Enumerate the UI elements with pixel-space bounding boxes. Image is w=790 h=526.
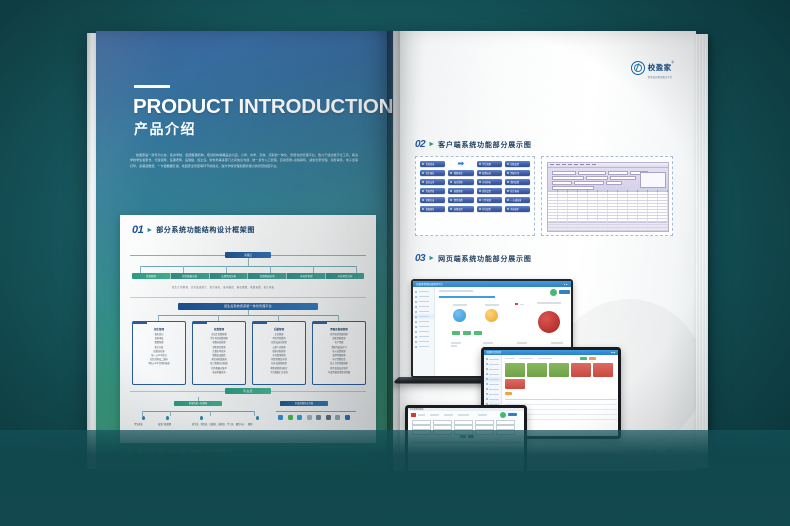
terminal-icon <box>316 415 321 420</box>
section-03-title: 网页端系统功能部分展示图 <box>438 254 532 264</box>
gauge-orange <box>485 309 498 322</box>
status-card-green[interactable] <box>527 363 547 377</box>
tier1-cell: 招生数据分析 <box>171 273 210 279</box>
function-button-label: 门禁管理 <box>482 198 491 202</box>
function-button[interactable]: 一卡通充值 <box>505 197 530 203</box>
section-01-number: 01 <box>132 224 143 236</box>
connector <box>140 266 141 274</box>
section-03-header: 03 ► 网页端系统功能部分展示图 <box>415 253 532 264</box>
function-button-label: 打印设置 <box>482 207 491 211</box>
function-button-label: 数据备份 <box>426 207 435 211</box>
filter-input[interactable] <box>475 425 494 430</box>
action-chip[interactable] <box>452 331 460 334</box>
sidebar-item-label <box>419 306 429 307</box>
filter-input[interactable] <box>412 420 431 425</box>
function-button-label: 减免设置 <box>482 189 491 193</box>
function-button-label: 代收代管 <box>426 189 435 193</box>
sidebar-item-label <box>419 336 429 337</box>
status-dot-icon <box>422 199 424 201</box>
function-column: 招生管理报名登记资格审核缴费管理新生分班班级花名册统一公众号登记招生简章及二维码… <box>132 321 186 385</box>
menu-dot-icon <box>415 336 417 338</box>
column-item: 新生分班 <box>133 346 185 350</box>
diagram-rule-top <box>130 255 366 256</box>
menu-dot-icon <box>486 358 488 360</box>
column-item: 校车及线路管理 <box>253 362 305 366</box>
function-button[interactable]: 学生管理 <box>477 161 502 167</box>
status-card-green[interactable] <box>549 363 569 377</box>
export-chip[interactable] <box>589 357 596 360</box>
function-button-label: 统计报表 <box>510 189 519 193</box>
menu-dot-icon <box>486 383 488 385</box>
connector <box>170 411 171 416</box>
status-dot-icon <box>507 181 509 183</box>
alipay-icon <box>297 415 302 420</box>
menu-dot-icon <box>415 341 417 343</box>
column-item: 收费标准管理 <box>193 341 245 345</box>
dashboard-title: 校盈家智慧校园管理平台 <box>416 282 442 286</box>
breadcrumb <box>439 290 473 291</box>
mobile-icon <box>345 415 350 420</box>
menu-dot-icon <box>486 373 488 375</box>
wechat-pay-icon <box>288 415 293 420</box>
menu-dot-icon <box>486 368 488 370</box>
connector <box>142 411 143 416</box>
function-button[interactable]: 票据打印 <box>505 170 530 176</box>
page-title-cn: 产品介绍 <box>134 119 196 139</box>
status-dot-icon <box>422 190 424 192</box>
section-02-header: 02 ► 客户端系统功能部分展示图 <box>415 139 532 150</box>
action-chip[interactable] <box>463 331 471 334</box>
tier1-cell: 收费数据分析 <box>248 273 287 279</box>
sidebar-item-label <box>489 374 499 375</box>
status-badge-blue <box>559 290 570 294</box>
column-item: 平台数据汇总查询 <box>253 371 305 375</box>
function-button[interactable]: 水电抄表 <box>477 179 502 185</box>
column-item: 财务收款票据管理 <box>313 333 365 337</box>
column-title: 后勤管理 <box>253 327 305 331</box>
section-02-title: 客户端系统功能部分展示图 <box>438 140 532 150</box>
map-pin-icon <box>200 416 203 420</box>
column-item: 学校公众平台预约报名 <box>133 362 185 366</box>
action-chip[interactable] <box>474 331 482 334</box>
column-item: 收支明细查询 <box>193 371 245 375</box>
tier1-cell: 交费情况分析 <box>210 273 249 279</box>
status-dot-icon <box>507 163 509 165</box>
leaf-label: 校务行政管理 <box>158 422 171 426</box>
sidebar-item-label <box>489 359 499 360</box>
right-page: 校盈家® 智慧校园管理服务平台 02 ► 客户端系统功能部分展示图 系统登录➡学… <box>393 31 696 471</box>
connector <box>158 315 338 316</box>
tier1-note: 招生计划管理、宣传渠道统计、招生报名、意向跟踪、报名缴费、收费退费、统计报表 <box>172 285 274 289</box>
function-button-label: 食堂消费 <box>454 198 463 202</box>
function-button[interactable]: 统计报表 <box>505 188 530 194</box>
menu-dot-icon <box>486 388 488 390</box>
function-button[interactable]: 数据备份 <box>420 206 445 212</box>
sidebar-item-label <box>419 346 429 347</box>
column-item: 多渠道收费通道 <box>193 358 245 362</box>
column-item: 物资管理及申领 <box>253 358 305 362</box>
scan-icon <box>335 415 340 420</box>
connector <box>226 266 227 274</box>
column-item: 缴费管理 <box>133 341 185 345</box>
function-button-label: 系统登录 <box>426 162 435 166</box>
legend-swatch <box>515 303 518 305</box>
status-badge-blue <box>508 413 517 416</box>
filter-input[interactable] <box>496 420 515 425</box>
status-dot-icon <box>479 163 481 165</box>
connector <box>276 411 356 412</box>
status-card-red[interactable] <box>593 363 613 377</box>
connector <box>356 266 357 274</box>
function-button-label: 收费标准 <box>482 171 491 175</box>
column-item: 财务数据对账单 <box>193 367 245 371</box>
connector <box>210 411 211 416</box>
book-spine <box>387 31 400 471</box>
connector <box>270 266 271 274</box>
dashboard-sidebar[interactable] <box>413 287 435 375</box>
intro-paragraph: 校盈家是一款专为公办、民办学校、集团寄宿机构、培训机构等覆盖幼儿园、小学、中学、… <box>130 153 358 169</box>
status-card-red[interactable] <box>505 379 525 389</box>
function-button[interactable]: 系统登录 <box>420 161 445 167</box>
sub-left-label: 多角色统一管理端 <box>174 401 222 406</box>
sidebar-item-label <box>489 389 499 390</box>
section-02-number: 02 <box>415 139 425 150</box>
status-dot-icon <box>450 199 452 201</box>
tier1-bar: 生源管理招生数据分析交费情况分析收费数据分析多校区管理全校预警分析 <box>132 273 364 279</box>
logo-text: 校盈家 <box>648 63 672 72</box>
column-item: 公寓人员管理 <box>253 346 305 350</box>
wechat-icon <box>278 415 283 420</box>
sidebar-item-label <box>419 326 429 327</box>
right-page-edge <box>696 34 708 468</box>
legacy-app-panel <box>541 156 673 236</box>
menu-dot-icon <box>486 363 488 365</box>
column-item: 班级花名册 <box>133 350 185 354</box>
function-button-label: 系统维护 <box>510 207 519 211</box>
status-badge-green <box>550 289 557 296</box>
status-dot-icon <box>422 172 424 174</box>
function-button-label: 费用结算 <box>510 180 519 184</box>
brand-logo: 校盈家® 智慧校园管理服务平台 <box>631 57 674 79</box>
column-item: 收入核算管理 <box>313 350 365 354</box>
decision-tier-label: 决策层 <box>225 252 271 258</box>
title-rule <box>134 85 170 88</box>
sidebar-item-label <box>489 399 499 400</box>
section-01-header: 01 ► 部分系统功能结构设计框架图 <box>132 224 255 236</box>
sidebar-item-label <box>489 379 499 380</box>
sidebar-item-label <box>419 331 429 332</box>
function-button[interactable]: 食堂消费 <box>448 197 473 203</box>
status-dot-icon <box>507 199 509 201</box>
section-01-title: 部分系统功能结构设计框架图 <box>156 225 255 235</box>
column-item: 发票明细管理 <box>313 354 365 358</box>
section-03-number: 03 <box>415 253 425 264</box>
page-title-en: PRODUCT INTRODUCTION <box>133 95 393 119</box>
column-item: 线上缴费自动核账 <box>193 362 245 366</box>
leaf-label: 招生处、财务处、后勤处、宿管处、学工处、教务中心 <box>192 422 245 426</box>
sidebar-item-label <box>489 384 499 385</box>
status-dot-icon <box>450 190 452 192</box>
chevron-right-icon: ► <box>146 227 153 234</box>
filter-input[interactable] <box>475 420 494 425</box>
filter-input[interactable] <box>433 425 452 430</box>
map-pin-icon <box>256 416 259 420</box>
leaf-label: 教师 <box>248 422 252 426</box>
filter-chip[interactable] <box>505 392 512 395</box>
column-item: 宿舍及床位管理 <box>253 341 305 345</box>
tier1-cell: 生源管理 <box>132 273 171 279</box>
column-item: 年度票据使用情况明细 <box>313 371 365 375</box>
status-card-green[interactable] <box>505 363 525 377</box>
sidebar-item-label <box>489 394 499 395</box>
logo-emblem-icon <box>631 61 645 75</box>
column-item: 欠费名单查询 <box>193 350 245 354</box>
connector <box>198 397 199 403</box>
column-item: 寝室分配管理 <box>253 350 305 354</box>
left-page: PRODUCT INTRODUCTION 产品介绍 校盈家是一款专为公办、民办学… <box>96 31 393 471</box>
column-item: 电子票据验真 <box>313 358 365 362</box>
function-button[interactable]: 代收代管 <box>420 188 445 194</box>
function-button-label: 票据打印 <box>510 171 519 175</box>
column-item: 电子票据 <box>313 341 365 345</box>
status-dot-icon <box>507 172 509 174</box>
function-button-label: 退费管理 <box>454 189 463 193</box>
menu-dot-icon <box>415 316 417 318</box>
app-table-body <box>548 192 668 222</box>
function-button-label: 学生管理 <box>482 162 491 166</box>
column-title: 票据及数据管理 <box>313 327 365 331</box>
function-button[interactable]: 系统维护 <box>505 206 530 212</box>
function-button-label: 宿舍安排 <box>426 180 435 184</box>
menu-dot-icon <box>415 331 417 333</box>
sidebar-item-label <box>419 301 429 302</box>
connector <box>183 266 184 274</box>
connector <box>142 411 254 412</box>
function-button[interactable]: 宿舍安排 <box>420 179 445 185</box>
column-title: 招生管理 <box>133 327 185 331</box>
status-dot-icon <box>450 208 452 210</box>
status-dot-icon <box>479 172 481 174</box>
framework-card: 01 ► 部分系统功能结构设计框架图 决策层 生源管理招生数 <box>120 215 376 443</box>
column-item: 报名登记 <box>133 333 185 337</box>
status-dot-icon <box>422 208 424 210</box>
save-chip[interactable] <box>580 357 587 360</box>
sidebar-item-label <box>489 369 499 370</box>
status-dot-icon <box>479 190 481 192</box>
connector <box>158 315 159 321</box>
function-button[interactable]: 打印设置 <box>477 206 502 212</box>
tier1-cell: 全校预警分析 <box>326 273 364 279</box>
diagram-rule-bottom <box>130 391 366 392</box>
column-item: 统一公众号登记 <box>133 354 185 358</box>
framework-diagram: 决策层 生源管理招生数据分析交费情况分析收费数据分析多校区管理全校预警分析 招生… <box>130 241 366 435</box>
arrow-right-icon: ➡ <box>448 161 473 167</box>
function-button[interactable]: 权限设置 <box>448 206 473 212</box>
sidebar-item-label <box>419 341 429 342</box>
column-item: 招生简章及二维码 <box>133 358 185 362</box>
function-column: 后勤管理走读管理代收代管费用宿舍及床位管理公寓人员管理寝室分配管理水电费用管理物… <box>252 321 306 385</box>
function-button-label: 招生报名 <box>426 171 435 175</box>
connector <box>140 266 356 267</box>
status-dot-icon <box>479 181 481 183</box>
function-button[interactable]: 床位管理 <box>448 179 473 185</box>
status-badge-green <box>500 412 506 418</box>
status-dot-icon <box>479 208 481 210</box>
filter-input[interactable] <box>454 420 473 425</box>
status-dot-icon <box>479 199 481 201</box>
map-pin-icon <box>166 416 169 420</box>
sidebar-item[interactable] <box>413 344 434 349</box>
platform-bar: 招生后勤收费票据一体化管理平台 <box>178 303 318 310</box>
menu-dot-icon <box>415 301 417 303</box>
client-button-grid[interactable]: 系统登录➡学生管理班级设置招生报名缴费收款收费标准票据打印宿舍安排床位管理水电抄… <box>420 161 530 212</box>
menu-dot-icon <box>415 306 417 308</box>
function-button[interactable]: 门禁管理 <box>477 197 502 203</box>
legacy-app-screenshot <box>547 162 669 232</box>
menu-dot-icon <box>415 326 417 328</box>
status-dot-icon <box>422 181 424 183</box>
app-form-area <box>548 168 668 190</box>
status-dot-icon <box>422 163 424 165</box>
sidebar-item-label <box>419 291 429 292</box>
sub-right-label: 全渠道教务支付端 <box>280 401 328 406</box>
client-buttons-panel: 系统登录➡学生管理班级设置招生报名缴费收款收费标准票据打印宿舍安排床位管理水电抄… <box>415 156 535 236</box>
menu-dot-icon <box>415 291 417 293</box>
function-button-label: 缴费收款 <box>454 171 463 175</box>
column-item: 在校生收费管理 <box>193 333 245 337</box>
function-button-label: 床位管理 <box>454 180 463 184</box>
status-dot-icon <box>450 181 452 183</box>
filter-input[interactable] <box>496 425 515 430</box>
sidebar-item-label <box>489 364 499 365</box>
leaf-label: 学生家长 <box>134 422 143 426</box>
function-button[interactable]: 班级设置 <box>505 161 530 167</box>
card-reader-icon <box>326 415 331 420</box>
filter-input[interactable] <box>454 425 473 430</box>
function-column: 票据及数据管理财务收款票据管理纸质票据管理电子票据票据作废及补打收入核算管理发票… <box>312 321 366 385</box>
left-page-edge <box>87 33 96 469</box>
sidebar-item-label <box>419 296 429 297</box>
watermark-bar: 百铂文化. 钻研好作品 www.baibo8.com 版权认证© <box>0 430 790 526</box>
tier1-cell: 多校区管理 <box>287 273 326 279</box>
column-item: 纸质票据管理 <box>313 337 365 341</box>
function-button[interactable]: 减免设置 <box>477 188 502 194</box>
column-item: 水电费用管理 <box>253 354 305 358</box>
menu-dot-icon <box>415 311 417 313</box>
connector <box>313 266 314 274</box>
logo-subtitle: 智慧校园管理服务平台 <box>648 75 674 79</box>
menu-dot-icon <box>486 393 488 395</box>
column-item: 资格审核 <box>133 337 185 341</box>
menu-dot-icon <box>415 321 417 323</box>
column-item: 考勤管理查询统计 <box>253 367 305 371</box>
function-button[interactable]: 缴费收款 <box>448 170 473 176</box>
function-button-label: 水电抄表 <box>482 180 491 184</box>
diagram-rule-mid <box>130 297 366 298</box>
pos-icon <box>307 415 312 420</box>
menu-dot-icon <box>486 398 488 400</box>
chevron-right-icon: ► <box>428 255 435 262</box>
connector <box>338 315 339 321</box>
column-item: 财务复核及对账单 <box>313 367 365 371</box>
map-pin-icon <box>142 416 145 420</box>
sidebar-item-label <box>419 321 429 322</box>
sidebar-item-label <box>419 316 429 317</box>
function-button[interactable]: 招生报名 <box>420 170 445 176</box>
logo-mark-red <box>411 413 416 417</box>
function-button-label: 班级设置 <box>510 162 519 166</box>
connector <box>248 258 249 266</box>
column-item: 票据作废及补打 <box>313 346 365 350</box>
function-button-label: 考勤记录 <box>426 198 435 202</box>
connector <box>254 411 255 416</box>
function-button[interactable]: 费用结算 <box>505 179 530 185</box>
function-button-label: 一卡通充值 <box>510 198 521 202</box>
status-dot-icon <box>507 208 509 210</box>
menu-dot-icon <box>415 296 417 298</box>
status-card-red[interactable] <box>571 363 591 377</box>
menu-dot-icon <box>415 346 417 348</box>
column-item: 线上打印票据管理 <box>313 362 365 366</box>
dashboard-user[interactable]: ● ● <box>564 283 568 286</box>
collection-title: 收费项目管理 <box>487 350 501 354</box>
function-button-label: 权限设置 <box>454 207 463 211</box>
platform-tier-label: 平台层 <box>225 388 271 394</box>
connector <box>248 310 249 316</box>
column-item: 缴费进度跟踪 <box>193 354 245 358</box>
gauge-blue <box>453 309 466 322</box>
chevron-right-icon: ► <box>428 141 435 148</box>
screenshot-stage: PRODUCT INTRODUCTION 产品介绍 校盈家是一款专为公办、民办学… <box>0 0 790 526</box>
function-button[interactable]: 收费标准 <box>477 170 502 176</box>
function-column: 收费管理在校生收费管理学生项目收费管理收费标准管理减免项目管理欠费名单查询缴费进… <box>192 321 246 385</box>
sidebar-item-label <box>419 311 429 312</box>
column-item: 学生项目收费管理 <box>193 337 245 341</box>
function-button[interactable]: 考勤记录 <box>420 197 445 203</box>
connector <box>278 315 279 321</box>
menu-dot-icon <box>486 378 488 380</box>
filter-input[interactable] <box>412 425 431 430</box>
logo-trademark: ® <box>672 61 675 65</box>
column-item: 减免项目管理 <box>193 346 245 350</box>
filter-input[interactable] <box>433 420 452 425</box>
table-row <box>548 231 668 232</box>
column-title: 收费管理 <box>193 327 245 331</box>
column-item: 走读管理 <box>253 333 305 337</box>
gauge-red <box>538 311 560 333</box>
open-book: PRODUCT INTRODUCTION 产品介绍 校盈家是一款专为公办、民办学… <box>96 31 696 471</box>
function-button[interactable]: 退费管理 <box>448 188 473 194</box>
connector <box>218 315 219 321</box>
status-dot-icon <box>507 190 509 192</box>
status-dot-icon <box>450 172 452 174</box>
column-item: 代收代管费用 <box>253 337 305 341</box>
